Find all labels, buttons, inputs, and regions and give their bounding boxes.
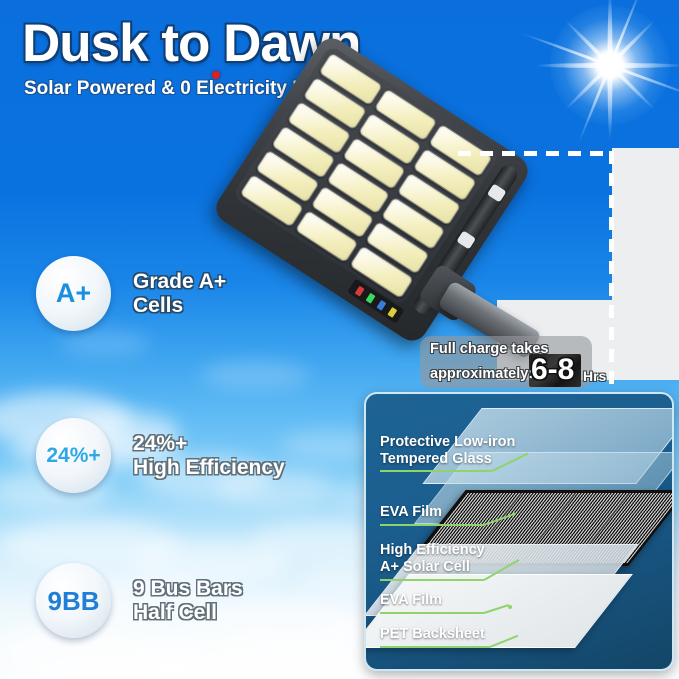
badge-value: 24%+ bbox=[46, 445, 100, 466]
right-white-column bbox=[612, 148, 679, 380]
feature-label: Grade A+ Cells bbox=[133, 270, 226, 317]
layer-label-line-2: Tempered Glass bbox=[380, 451, 492, 467]
dashed-guide-horizontal bbox=[458, 151, 614, 156]
charge-hours-value: 6-8 bbox=[531, 355, 574, 385]
infographic-canvas: Dusk to Dawn Solar Powered & 0 Electrici… bbox=[0, 0, 679, 679]
badge-circle-a-plus: A+ bbox=[36, 256, 111, 331]
feature-line-2: Half Cell bbox=[133, 601, 243, 625]
layer-label-line-1: High Efficiency bbox=[380, 542, 485, 558]
layer-label-pet-backsheet: PET Backsheet bbox=[380, 626, 485, 643]
layer-label-tempered-glass: Protective Low-iron Tempered Glass bbox=[380, 434, 515, 467]
sun-flare-icon bbox=[535, 0, 679, 140]
feature-badge-grade-a: A+ Grade A+ Cells bbox=[36, 256, 226, 331]
feature-line-1: Grade A+ bbox=[133, 270, 226, 294]
charge-hours-unit: Hrs bbox=[583, 368, 606, 384]
layer-label-eva-top: EVA Film bbox=[380, 504, 442, 521]
layer-label-line-1: EVA Film bbox=[380, 504, 442, 520]
feature-badge-efficiency: 24%+ 24%+ High Efficiency bbox=[36, 418, 285, 493]
feature-label: 9 Bus Bars Half Cell bbox=[133, 577, 243, 624]
feature-label: 24%+ High Efficiency bbox=[133, 432, 285, 479]
dashed-guide-vertical bbox=[609, 151, 614, 387]
feature-badge-bus-bars: 9BB 9 Bus Bars Half Cell bbox=[36, 563, 243, 638]
layer-label-line-1: EVA Film bbox=[380, 592, 442, 608]
layer-label-line-1: PET Backsheet bbox=[380, 626, 485, 642]
feature-line-2: High Efficiency bbox=[133, 456, 285, 480]
feature-line-1: 9 Bus Bars bbox=[133, 577, 243, 601]
layer-label-line-2: A+ Solar Cell bbox=[380, 559, 470, 575]
solar-street-light bbox=[249, 82, 549, 372]
feature-line-2: Cells bbox=[133, 294, 226, 318]
badge-value: 9BB bbox=[47, 588, 99, 614]
layer-label-eva-bottom: EVA Film bbox=[380, 592, 442, 609]
layer-label-solar-cell: High Efficiency A+ Solar Cell bbox=[380, 542, 485, 575]
measurement-marker-dot bbox=[212, 71, 220, 79]
feature-line-1: 24%+ bbox=[133, 432, 285, 456]
cloud-puff bbox=[60, 330, 150, 356]
badge-value: A+ bbox=[56, 280, 91, 307]
panel-layers-diagram: Protective Low-iron Tempered Glass EVA F… bbox=[364, 392, 674, 671]
badge-circle-bus-bars: 9BB bbox=[36, 563, 111, 638]
layer-label-line-1: Protective Low-iron bbox=[380, 434, 515, 450]
badge-circle-efficiency: 24%+ bbox=[36, 418, 111, 493]
charge-callout-line-2: approximately: bbox=[430, 366, 533, 382]
